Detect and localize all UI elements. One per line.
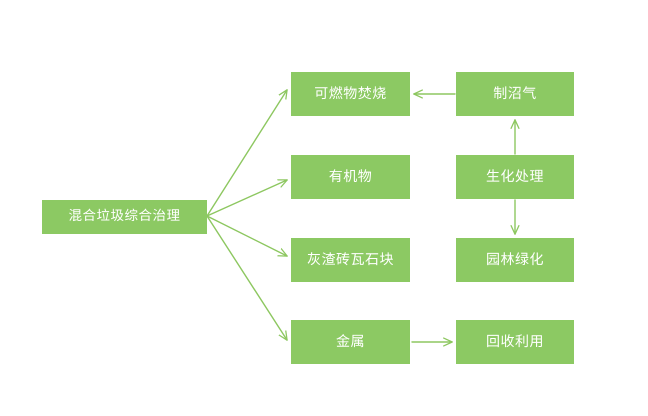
- edge-root-to-ash-brick: [207, 216, 287, 256]
- node-biogas-production[interactable]: 制沼气: [456, 72, 574, 116]
- node-combustibles-incineration[interactable]: 可燃物焚烧: [291, 72, 410, 116]
- node-ash-brick-tile-stone[interactable]: 灰渣砖瓦石块: [291, 238, 410, 282]
- node-landscaping-greening[interactable]: 园林绿化: [456, 238, 574, 282]
- node-recycling-reuse[interactable]: 回收利用: [456, 320, 574, 364]
- edge-root-to-organics: [207, 180, 287, 216]
- node-root-mixed-waste-treatment[interactable]: 混合垃圾综合治理: [42, 200, 207, 234]
- edge-root-to-metal: [207, 216, 287, 340]
- node-biochemical-treatment[interactable]: 生化处理: [456, 155, 574, 199]
- edge-root-to-combustibles: [207, 90, 287, 216]
- node-organic-matter[interactable]: 有机物: [291, 155, 410, 199]
- flowchart-canvas: 混合垃圾综合治理 可燃物焚烧 有机物 灰渣砖瓦石块 金属 制沼气 生化处理 园林…: [0, 0, 648, 416]
- node-metal[interactable]: 金属: [291, 320, 410, 364]
